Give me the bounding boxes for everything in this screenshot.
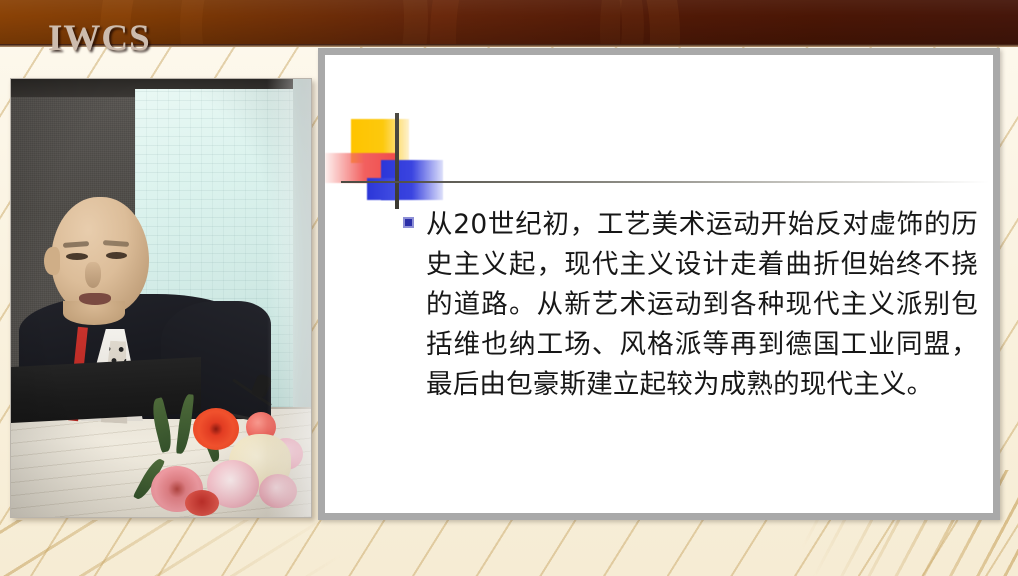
- bullet-square-icon: [403, 217, 414, 228]
- slide-body-paragraph: 从20世纪初，工艺美术运动开始反对虚饰的历史主义起，现代主义设计走着曲折但始终不…: [426, 205, 978, 405]
- slide-stage: IWCS: [0, 0, 1018, 576]
- speaker-photo: [10, 78, 312, 518]
- bullet-paragraph-row: 从20世纪初，工艺美术运动开始反对虚饰的历史主义起，现代主义设计走着曲折但始终不…: [403, 205, 983, 405]
- photo-content: [11, 79, 311, 517]
- motif-vertical-line: [395, 113, 399, 209]
- photo-vignette: [11, 79, 311, 517]
- top-banner: [0, 0, 1018, 46]
- slide-body-text: 从20世纪初，工艺美术运动开始反对虚饰的历史主义起，现代主义设计走着曲折但始终不…: [426, 205, 978, 405]
- mondrian-motif: [343, 115, 453, 205]
- photo-right-glow: [267, 79, 311, 517]
- slide-panel-inner: 从20世纪初，工艺美术运动开始反对虚饰的历史主义起，现代主义设计走着曲折但始终不…: [325, 55, 993, 513]
- iwcs-logo: IWCS: [48, 20, 151, 57]
- background-bottom-left-lines: [0, 520, 420, 576]
- banner-bottom-edge: [0, 44, 1018, 47]
- banner-shading: [0, 0, 1018, 46]
- motif-horizontal-rule: [341, 181, 989, 183]
- slide-content-panel: 从20世纪初，工艺美术运动开始反对虚饰的历史主义起，现代主义设计走着曲折但始终不…: [318, 48, 1000, 520]
